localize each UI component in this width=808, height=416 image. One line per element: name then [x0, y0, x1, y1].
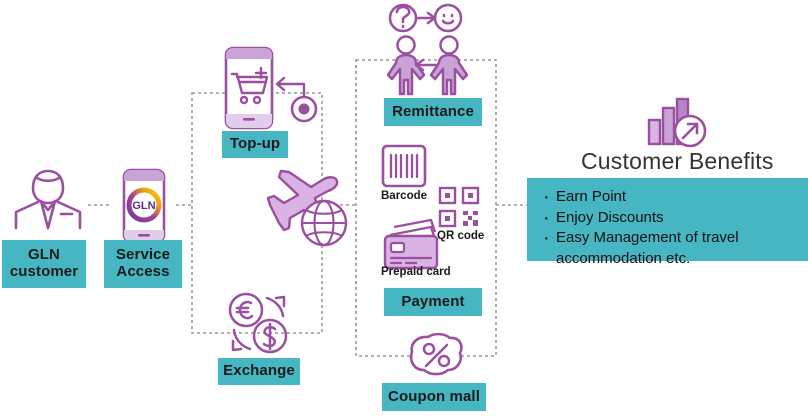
chip-coupon-mall-label: Coupon mall — [388, 389, 480, 406]
chip-gln-customer-label: GLN customer — [10, 247, 78, 281]
chip-coupon-mall[interactable]: Coupon mall — [382, 383, 486, 411]
chip-remittance[interactable]: Remittance — [384, 98, 482, 126]
benefits-list: Earn Point Enjoy Discounts Easy Manageme… — [543, 187, 794, 270]
currency-exchange-euro-dollar-icon — [224, 288, 294, 360]
chip-top-up-label: Top-up — [230, 136, 280, 153]
two-people-transfer-icon — [380, 2, 488, 98]
prepaid-card-icon — [381, 218, 453, 272]
chip-gln-customer[interactable]: GLN customer — [2, 240, 86, 288]
airplane-globe-icon — [262, 168, 358, 250]
chip-payment[interactable]: Payment — [384, 288, 482, 316]
customer-benefits-panel: Earn Point Enjoy Discounts Easy Manageme… — [527, 178, 808, 261]
caption-prepaid-card: Prepaid card — [381, 266, 451, 279]
chip-exchange-label: Exchange — [223, 363, 295, 380]
benefit-item: Enjoy Discounts — [543, 208, 794, 229]
chip-exchange[interactable]: Exchange — [218, 358, 300, 385]
chip-top-up[interactable]: Top-up — [222, 131, 288, 158]
bar-chart-arrow-up-icon — [645, 96, 711, 150]
customer-benefits-heading: Customer Benefits — [581, 148, 774, 175]
caption-barcode: Barcode — [381, 190, 427, 203]
percent-coupon-icon — [404, 330, 466, 380]
svg-text:GLN: GLN — [132, 200, 155, 212]
benefit-item: Earn Point — [543, 187, 794, 208]
person-suit-icon — [8, 168, 88, 230]
chip-payment-label: Payment — [401, 294, 464, 311]
chip-remittance-label: Remittance — [392, 104, 474, 121]
barcode-icon — [381, 144, 427, 188]
diagram-canvas: GLN customer GLN Service Access — [0, 0, 808, 416]
chip-service-access[interactable]: Service Access — [104, 240, 182, 288]
phone-gln-logo-icon: GLN — [114, 168, 174, 244]
chip-service-access-label: Service Access — [116, 247, 170, 281]
phone-cart-plus-icon — [220, 46, 320, 130]
benefit-item: Easy Management of travel accommodation … — [543, 228, 794, 269]
